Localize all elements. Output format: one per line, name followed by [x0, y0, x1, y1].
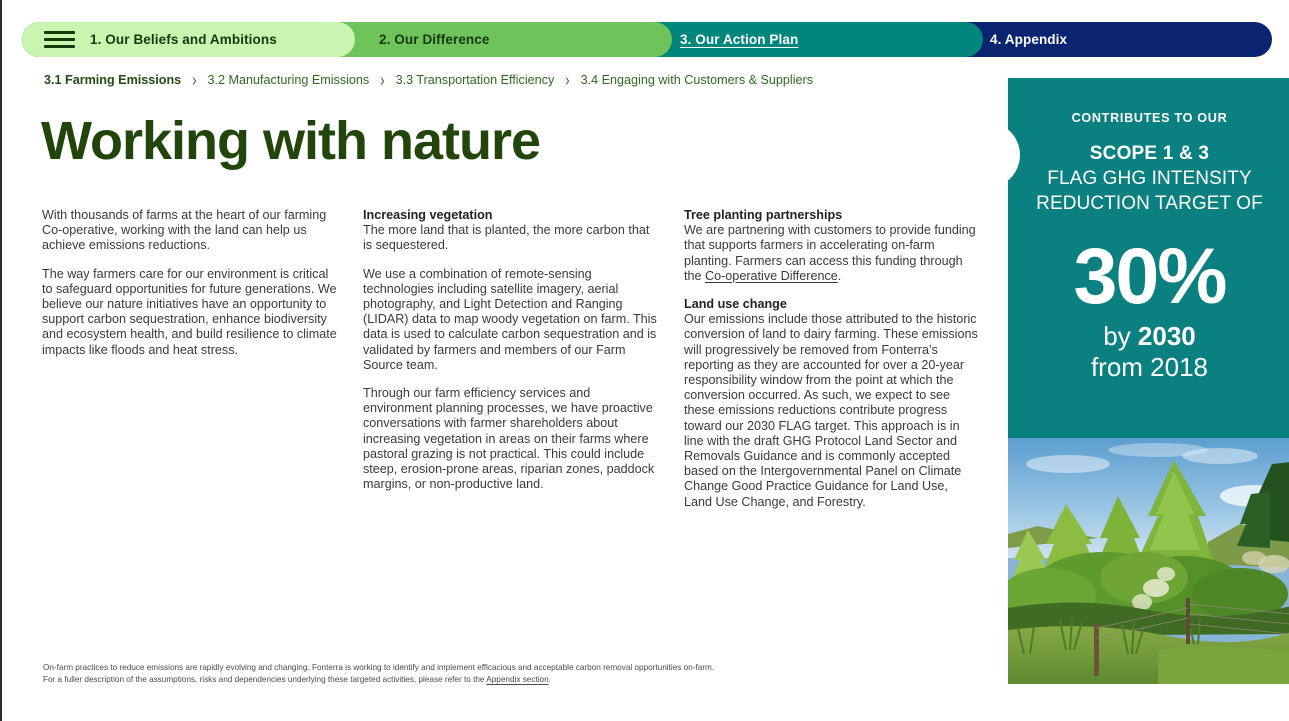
- link-appendix-section[interactable]: Appendix section: [486, 675, 548, 684]
- chevron-right-icon: ›: [565, 69, 569, 89]
- nav-tab-our-beliefs-and-ambitions[interactable]: 1. Our Beliefs and Ambitions: [22, 22, 355, 57]
- paragraph: Through our farm efficiency services and…: [363, 386, 661, 492]
- body-column-increasing-vegetation: Increasing vegetation The more land that…: [363, 208, 661, 492]
- breadcrumb-item-transportation-efficiency[interactable]: 3.3 Transportation Efficiency: [396, 73, 555, 87]
- hamburger-bar: [44, 38, 75, 41]
- section-heading-land-use-change: Land use change: [684, 297, 979, 312]
- photo-native-bush-regeneration: [1008, 438, 1289, 684]
- footnote-text: .: [549, 675, 551, 684]
- footnote: On-farm practices to reduce emissions ar…: [43, 662, 843, 685]
- footnote-text: For a fuller description of the assumpti…: [43, 675, 486, 684]
- chevron-right-icon: ›: [192, 69, 196, 89]
- callout-line-2: REDUCTION TARGET OF: [1008, 191, 1289, 216]
- slide-page: 4. Appendix 3. Our Action Plan 2. Our Di…: [0, 0, 1289, 721]
- footnote-line: On-farm practices to reduce emissions ar…: [43, 662, 843, 674]
- callout-from-line: from 2018: [1008, 352, 1289, 383]
- section-heading-tree-planting-partnerships: Tree planting partnerships: [684, 208, 979, 223]
- nav-tab-label: 1. Our Beliefs and Ambitions: [90, 32, 277, 47]
- paragraph: The more land that is planted, the more …: [363, 223, 661, 253]
- hamburger-bar: [44, 31, 75, 34]
- chevron-right-icon: ›: [380, 69, 384, 89]
- nav-tab-label: 3. Our Action Plan: [680, 32, 798, 47]
- breadcrumb-item-manufacturing-emissions[interactable]: 3.2 Manufacturing Emissions: [208, 73, 370, 87]
- nav-tab-label: 4. Appendix: [990, 32, 1067, 47]
- hamburger-bar: [44, 45, 75, 48]
- section-heading-increasing-vegetation: Increasing vegetation: [363, 208, 661, 223]
- paragraph: Our emissions include those attributed t…: [684, 312, 979, 510]
- callout-by-prefix: by: [1103, 321, 1138, 351]
- paragraph-text: .: [838, 269, 842, 283]
- callout-big-number: 30%: [1008, 238, 1289, 313]
- callout-line-1: FLAG GHG INTENSITY: [1008, 166, 1289, 191]
- nav-tab-label: 2. Our Difference: [379, 32, 489, 47]
- paragraph: The way farmers care for our environment…: [42, 267, 342, 358]
- paragraph: We use a combination of remote-sensing t…: [363, 267, 661, 373]
- breadcrumb-item-farming-emissions[interactable]: 3.1 Farming Emissions: [44, 73, 181, 87]
- link-co-operative-difference[interactable]: Co-operative Difference: [705, 269, 838, 283]
- page-title: Working with nature: [41, 113, 540, 170]
- hamburger-icon[interactable]: [44, 31, 75, 48]
- callout-kicker: CONTRIBUTES TO OUR: [1008, 111, 1289, 125]
- callout-by-line: by 2030: [1008, 321, 1289, 352]
- body-column-intro: With thousands of farms at the heart of …: [42, 208, 342, 358]
- section-nav-bar: 4. Appendix 3. Our Action Plan 2. Our Di…: [22, 22, 1272, 57]
- callout-target-panel: CONTRIBUTES TO OUR SCOPE 1 & 3 FLAG GHG …: [1008, 78, 1289, 438]
- paragraph: With thousands of farms at the heart of …: [42, 208, 342, 254]
- photo-illustration: [1008, 438, 1289, 684]
- breadcrumb-item-engaging-with-customers-suppliers[interactable]: 3.4 Engaging with Customers & Suppliers: [581, 73, 813, 87]
- breadcrumb: 3.1 Farming Emissions › 3.2 Manufacturin…: [44, 72, 813, 87]
- body-column-tree-planting-and-land-use: Tree planting partnerships We are partne…: [684, 208, 979, 510]
- callout-by-year: 2030: [1138, 321, 1196, 351]
- callout-scope-label: SCOPE 1 & 3: [1008, 143, 1289, 165]
- footnote-line: For a fuller description of the assumpti…: [43, 674, 843, 686]
- paragraph: We are partnering with customers to prov…: [684, 223, 979, 284]
